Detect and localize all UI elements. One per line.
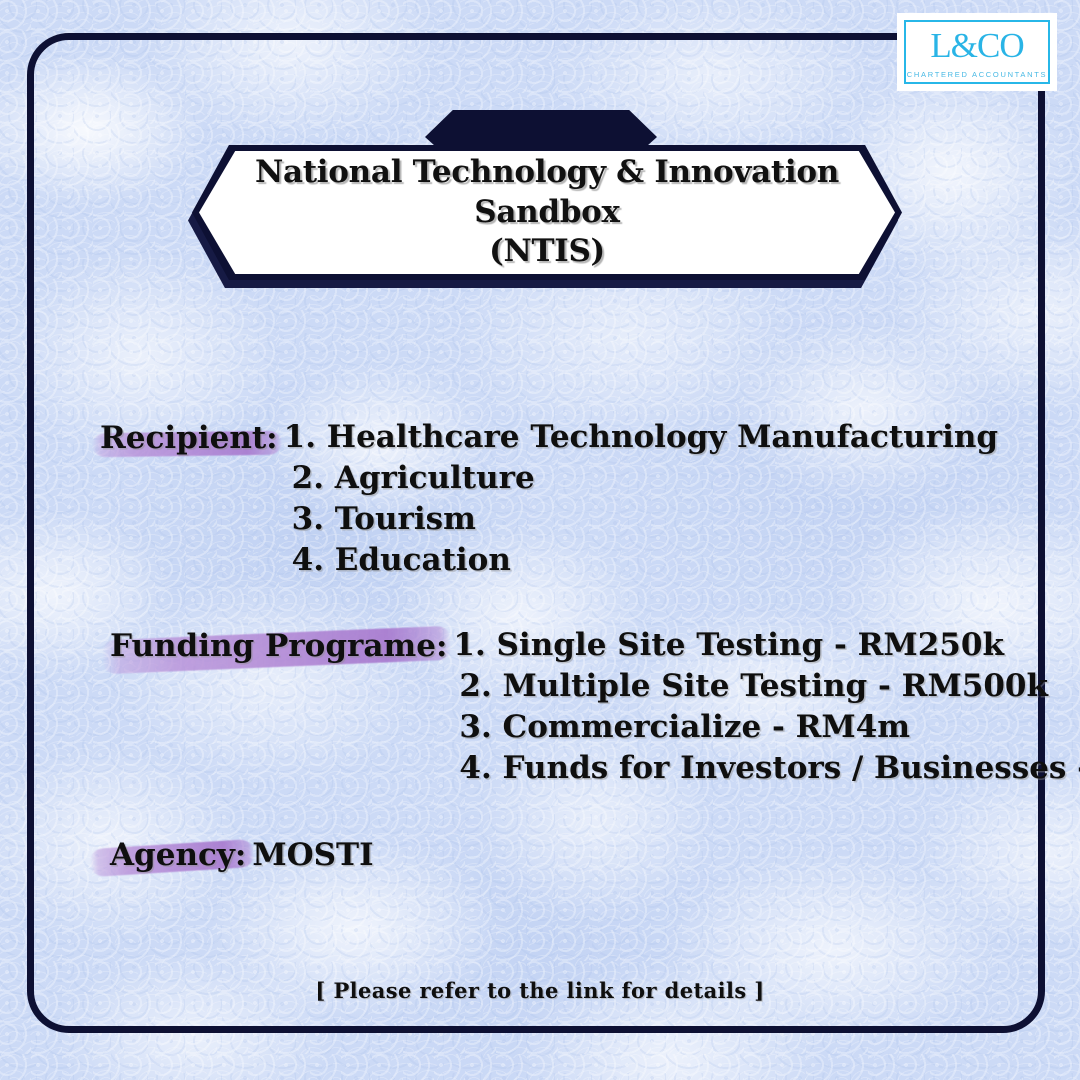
recipient-label-wrap: Recipient: bbox=[100, 417, 278, 459]
agency-label: Agency: bbox=[110, 837, 246, 873]
list-item: 2. Multiple Site Testing - RM500k bbox=[453, 666, 1080, 707]
list-item: 2. Agriculture bbox=[284, 458, 998, 499]
section-recipient: Recipient: 1. Healthcare Technology Manu… bbox=[100, 417, 998, 581]
footer-note: [ Please refer to the link for details ] bbox=[0, 978, 1080, 1003]
funding-list: 1. Single Site Testing - RM250k 2. Multi… bbox=[447, 625, 1080, 789]
list-item: 3. Tourism bbox=[284, 499, 998, 540]
list-item: 4. Education bbox=[284, 540, 998, 581]
list-item: 3. Commercialize - RM4m bbox=[453, 707, 1080, 748]
section-agency: Agency: MOSTI bbox=[110, 834, 374, 876]
recipient-label: Recipient: bbox=[100, 420, 278, 456]
poster-canvas: L&CO CHARTERED ACCOUNTANTS National Tech… bbox=[0, 0, 1080, 1080]
poster-content: Recipient: 1. Healthcare Technology Manu… bbox=[0, 0, 1080, 1080]
funding-label: Funding Programe: bbox=[110, 628, 447, 664]
funding-label-wrap: Funding Programe: bbox=[110, 625, 447, 667]
agency-label-wrap: Agency: bbox=[110, 834, 246, 876]
list-item: 1. Healthcare Technology Manufacturing bbox=[284, 417, 998, 458]
recipient-list: 1. Healthcare Technology Manufacturing 2… bbox=[278, 417, 998, 581]
agency-value: MOSTI bbox=[246, 834, 373, 876]
list-item: 1. Single Site Testing - RM250k bbox=[453, 625, 1080, 666]
list-item: 4. Funds for Investors / Businesses - RM… bbox=[453, 748, 1080, 789]
section-funding-programme: Funding Programe: 1. Single Site Testing… bbox=[110, 625, 1080, 789]
